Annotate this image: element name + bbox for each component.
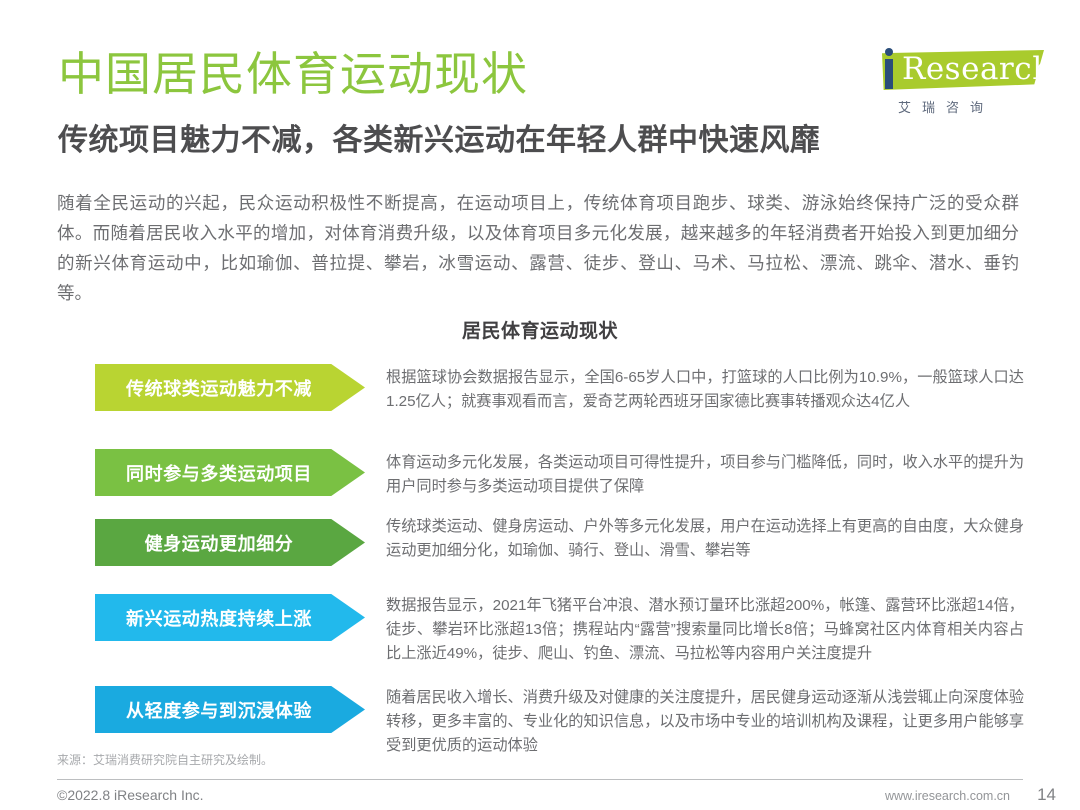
row-banner[interactable]: 新兴运动热度持续上涨 (95, 594, 365, 641)
row-banner[interactable]: 传统球类运动魅力不减 (95, 364, 365, 411)
logo-wordmark: Research (902, 50, 1053, 88)
row-banner-label: 传统球类运动魅力不减 (126, 375, 312, 401)
row-description: 随着居民收入增长、消费升级及对健康的关注度提升，居民健身运动逐渐从浅尝辄止向深度… (386, 686, 1024, 758)
page-header: 中国居民体育运动现状 传统项目魅力不减，各类新兴运动在年轻人群中快速风靡 Res… (0, 0, 1080, 175)
footer-url: www.iresearch.com.cn (885, 789, 1010, 803)
copyright-text: ©2022.8 iResearch Inc. (57, 787, 204, 803)
row-banner-label: 同时参与多类运动项目 (126, 460, 312, 486)
row-banner-label: 从轻度参与到沉浸体验 (126, 697, 312, 723)
logo-i-stem-icon (885, 59, 893, 89)
page-number: 14 (1037, 785, 1056, 805)
footer-divider (57, 779, 1023, 780)
row-banner-label: 健身运动更加细分 (145, 530, 294, 556)
logo-chinese-name: 艾瑞咨询 (898, 97, 994, 116)
source-note: 来源：艾瑞消费研究院自主研究及绘制。 (57, 751, 273, 768)
row-description: 数据报告显示，2021年飞猪平台冲浪、潜水预订量环比涨超200%，帐篷、露营环比… (386, 594, 1024, 666)
intro-paragraph: 随着全民运动的兴起，民众运动积极性不断提高，在运动项目上，传统体育项目跑步、球类… (57, 188, 1019, 308)
row-description: 传统球类运动、健身房运动、户外等多元化发展，用户在运动选择上有更高的自由度，大众… (386, 515, 1024, 563)
page-title: 中国居民体育运动现状 (58, 45, 528, 103)
iresearch-logo: Research 艾瑞咨询 (864, 48, 1044, 122)
logo-mark: Research (864, 48, 1044, 94)
row-description: 根据篮球协会数据报告显示，全国6-65岁人口中，打篮球的人口比例为10.9%，一… (386, 366, 1024, 414)
row-banner[interactable]: 健身运动更加细分 (95, 519, 365, 566)
row-banner[interactable]: 从轻度参与到沉浸体验 (95, 686, 365, 733)
row-banner[interactable]: 同时参与多类运动项目 (95, 449, 365, 496)
row-description: 体育运动多元化发展，各类运动项目可得性提升，项目参与门槛降低，同时，收入水平的提… (386, 451, 1024, 499)
chart-title: 居民体育运动现状 (0, 316, 1080, 343)
logo-i-dot-icon (885, 48, 893, 56)
page-subtitle: 传统项目魅力不减，各类新兴运动在年轻人群中快速风靡 (58, 121, 821, 161)
row-banner-label: 新兴运动热度持续上涨 (126, 605, 312, 631)
